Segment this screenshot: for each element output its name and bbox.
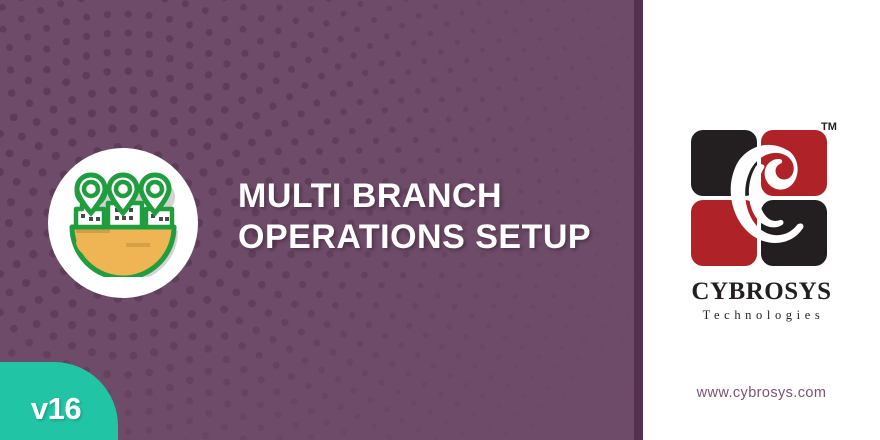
brand-name: CYBROSYS [691,278,831,306]
brand-logo-block: TM CYBROSYS Technologies [643,118,880,323]
multi-branch-globe-icon [64,169,182,277]
title-line-2: OPERATIONS SETUP [238,217,628,258]
brand-subtitle: Technologies [699,307,825,323]
cybrosys-logo: TM [687,118,837,270]
banner-title: MULTI BRANCH OPERATIONS SETUP [238,176,628,258]
multi-branch-icon-disc [48,148,198,298]
version-label: v16 [31,393,81,424]
cybrosys-logo-mark: TM [687,118,837,270]
title-line-1: MULTI BRANCH [238,176,628,217]
version-badge: v16 [0,362,118,440]
left-purple-panel: MULTI BRANCH OPERATIONS SETUP v16 [0,0,634,440]
right-white-panel: TM CYBROSYS Technologies www.cybrosys.co… [643,0,880,440]
trademark-symbol: TM [821,121,837,133]
promo-banner: MULTI BRANCH OPERATIONS SETUP v16 [0,0,880,440]
panel-divider [634,0,643,440]
website-url[interactable]: www.cybrosys.com [643,385,880,401]
